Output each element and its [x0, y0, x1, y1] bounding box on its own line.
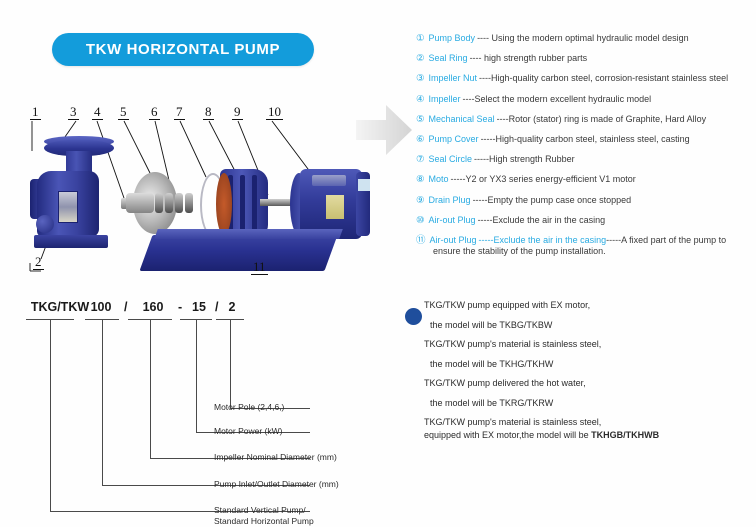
nomenclature-label-pump-type-2: Standard Horizontal Pump [214, 516, 314, 527]
part-name: Mechanical Seal [429, 114, 495, 125]
mechanical-seal-stack [155, 193, 195, 213]
part-description: -----High strength Rubber [474, 154, 575, 165]
part-description: -----Exclude the air in the casing [479, 235, 607, 246]
parts-description-list: ① Pump Body ---- Using the modern optima… [416, 33, 756, 257]
part-name: Impeller Nut [429, 73, 478, 84]
model-code-inlet: 100 [82, 300, 120, 314]
pump-body-foot [34, 235, 108, 248]
part-description: -----Empty the pump case once stopped [473, 195, 632, 206]
part-description: ----High-quality carbon steel, corrosion… [479, 73, 728, 84]
code-drop-impeller [150, 319, 151, 458]
variant-note-line: TKG/TKW pump's material is stainless ste… [400, 339, 756, 350]
impeller-hub [126, 193, 154, 213]
product-datasheet: TKW HORIZONTAL PUMP [0, 0, 756, 500]
part-name: Air-out Plug [429, 215, 476, 226]
part-list-item: ② Seal Ring ---- high strength rubber pa… [416, 53, 756, 64]
part-name: Pump Body [429, 33, 476, 44]
nomenclature-label-motor-power: Motor Power (kW) [214, 426, 282, 437]
part-name: Air-out Plug [430, 235, 477, 246]
base-plate-part [139, 235, 337, 271]
section-arrow [356, 103, 412, 157]
model-code-sep-1: / [124, 300, 127, 314]
part-description: ---- Using the modern optimal hydraulic … [477, 33, 689, 44]
part-list-item: ④ Impeller ----Select the modern excelle… [416, 94, 756, 105]
part-name: Drain Plug [429, 195, 471, 206]
part-number-icon: ⑥ [416, 134, 425, 145]
part-number-icon: ④ [416, 94, 425, 105]
part-number-icon: ③ [416, 73, 425, 84]
part-description: -----Exclude the air in the casing [478, 215, 606, 226]
variant-note-line: the model will be TKHG/TKHW [400, 359, 756, 370]
part-number-icon: ⑨ [416, 195, 425, 206]
variant-note-line: the model will be TKRG/TKRW [400, 398, 756, 409]
motor-terminal-box [312, 175, 346, 186]
variant-note-final: equipped with EX motor,the model will be… [400, 430, 756, 441]
model-nomenclature-diagram: TKG/TKW 100 / 160 - 15 / 2 Motor Pole (2… [0, 295, 400, 500]
part-name: Pump Cover [429, 134, 479, 145]
model-code-power: 15 [186, 300, 212, 314]
motor-nameplate [326, 195, 344, 219]
nomenclature-label-motor-pole: Motor Pole (2,4,6,) [214, 402, 284, 413]
variant-note-line: TKG/TKW pump's material is stainless ste… [400, 417, 756, 428]
part-number-icon: ⑧ [416, 174, 425, 185]
part-list-item: ① Pump Body ---- Using the modern optima… [416, 33, 756, 44]
part-list-item: ⑪ Air-out Plug -----Exclude the air in t… [416, 235, 756, 246]
pump-cover-face [216, 173, 232, 235]
part-name: Moto [429, 174, 449, 185]
drain-plug-part [36, 215, 54, 233]
part-description: ----Select the modern excellent hydrauli… [463, 94, 652, 105]
part-name: Impeller [429, 94, 461, 105]
pump-body-window [58, 191, 78, 223]
part-number-icon: ⑩ [416, 215, 425, 226]
code-drop-prefix [50, 319, 51, 511]
callout-number-11: 11 [251, 260, 268, 275]
part-list-item: ⑤ Mechanical Seal ----Rotor (stator) rin… [416, 114, 756, 125]
callout-number-6: 6 [149, 105, 160, 120]
model-code-sep-3: / [215, 300, 218, 314]
part-description-continuation: ensure the stability of the pump install… [433, 246, 756, 257]
part-description: -----Y2 or YX3 series energy-efficient V… [451, 174, 636, 185]
variant-note-line: TKG/TKW pump equipped with EX motor, [400, 300, 756, 311]
part-number-icon: ① [416, 33, 425, 44]
nomenclature-label-impeller-dia: Impeller Nominal Diameter (mm) [214, 452, 337, 463]
callout-number-2: 2 [33, 255, 44, 270]
nomenclature-label-pump-type-1: Standard Vertical Pump/ [214, 505, 306, 516]
motor-sticker [358, 179, 370, 191]
callout-number-1: 1 [30, 105, 41, 120]
callout-number-3: 3 [68, 105, 79, 120]
part-list-item: ⑩ Air-out Plug -----Exclude the air in t… [416, 215, 756, 226]
variant-final-model: TKHGB/TKHWB [591, 430, 659, 440]
part-list-item: ⑥ Pump Cover -----High-quality carbon st… [416, 134, 756, 145]
callout-number-7: 7 [174, 105, 185, 120]
base-plate-top [154, 229, 343, 239]
part-list-item: ③ Impeller Nut ----High-quality carbon s… [416, 73, 756, 84]
nomenclature-label-inlet-dia: Pump Inlet/Outlet Diameter (mm) [214, 479, 339, 490]
bullet-point-icon [405, 308, 422, 325]
code-drop-pole [230, 319, 231, 408]
callout-number-5: 5 [118, 105, 129, 120]
model-code-impeller: 160 [134, 300, 172, 314]
part-number-icon: ⑤ [416, 114, 425, 125]
page-title: TKW HORIZONTAL PUMP [86, 41, 280, 58]
part-description: ---- high strength rubber parts [470, 53, 588, 64]
callout-number-9: 9 [232, 105, 243, 120]
part-description-tail: -----A fixed part of the pump to [606, 235, 726, 246]
code-drop-power [196, 319, 197, 432]
model-code-pole: 2 [222, 300, 242, 314]
callout-number-4: 4 [92, 105, 103, 120]
part-number-icon: ② [416, 53, 425, 64]
callout-number-8: 8 [203, 105, 214, 120]
variant-note-line: TKG/TKW pump delivered the hot water, [400, 378, 756, 389]
part-description: -----High-quality carbon steel, stainles… [481, 134, 690, 145]
code-drop-inlet [102, 319, 103, 485]
variant-final-prefix: equipped with EX motor,the model will be [424, 430, 591, 440]
part-list-item: ⑧ Moto -----Y2 or YX3 series energy-effi… [416, 174, 756, 185]
part-name: Seal Circle [429, 154, 473, 165]
part-list-item: ⑨ Drain Plug -----Empty the pump case on… [416, 195, 756, 206]
part-name: Seal Ring [429, 53, 468, 64]
callout-number-10: 10 [266, 105, 283, 120]
model-variant-notes: TKG/TKW pump equipped with EX motor, the… [400, 300, 756, 450]
page-title-banner: TKW HORIZONTAL PUMP [52, 33, 314, 66]
exploded-pump-diagram: 1 3 4 5 6 7 8 9 10 2 11 [0, 95, 400, 285]
part-number-icon: ⑦ [416, 154, 425, 165]
part-number-icon: ⑪ [416, 235, 426, 246]
part-description: ----Rotor (stator) ring is made of Graph… [497, 114, 707, 125]
variant-note-line: the model will be TKBG/TKBW [400, 320, 756, 331]
part-list-item: ⑦ Seal Circle -----High strength Rubber [416, 154, 756, 165]
model-code-sep-2: - [178, 300, 182, 314]
